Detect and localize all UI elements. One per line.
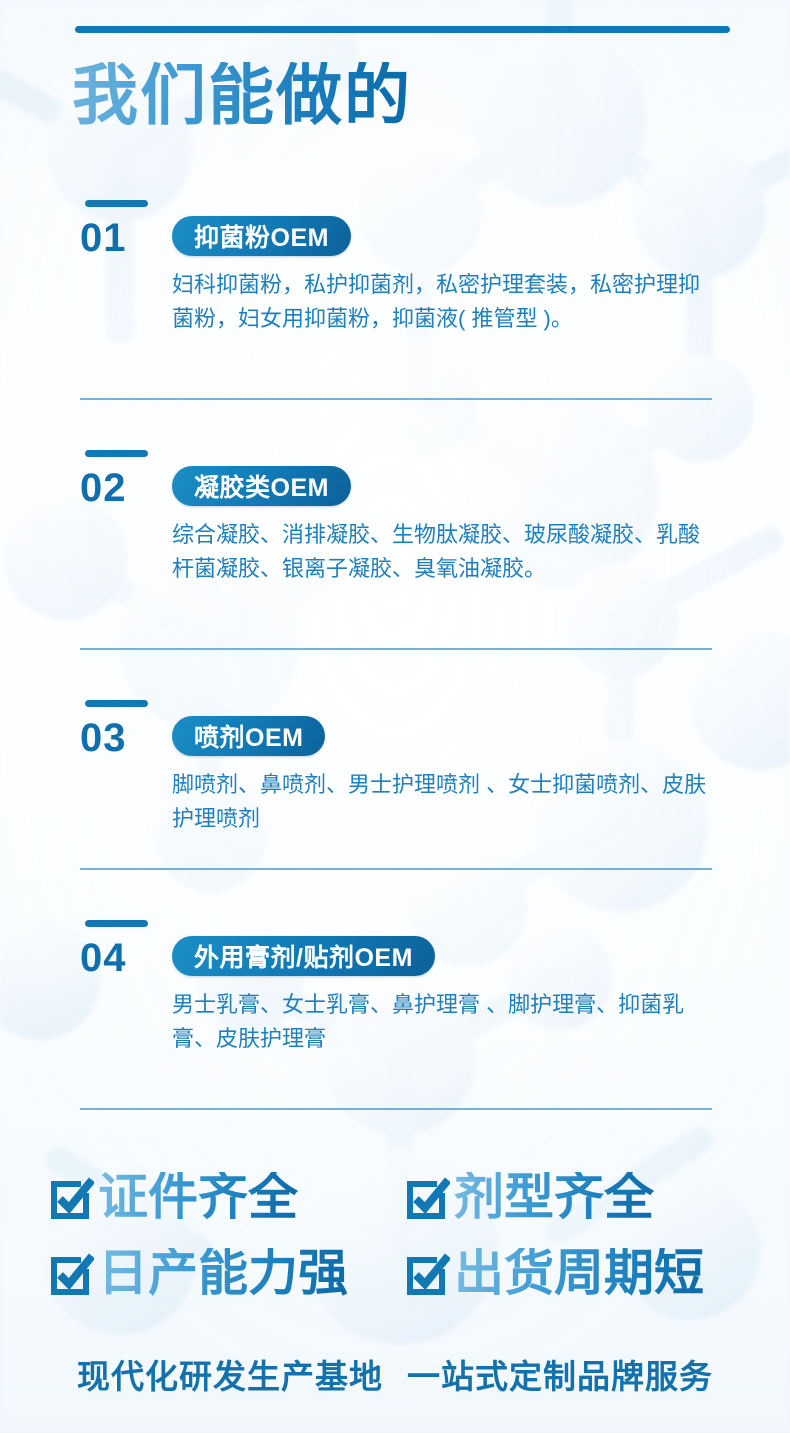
feature-item: 证件齐全 [48, 1172, 298, 1222]
feature-label: 出货周期短 [454, 1248, 704, 1298]
feature-item: 出货周期短 [404, 1248, 704, 1298]
feature-label: 证件齐全 [98, 1172, 298, 1222]
section-divider-4 [80, 1108, 712, 1110]
tagline-left: 现代化研发生产基地 [77, 1358, 383, 1395]
checkbox-checked-icon [404, 1252, 450, 1298]
section-divider-2 [80, 648, 712, 650]
item-description: 综合凝胶、消排凝胶、生物肽凝胶、玻尿酸凝胶、乳酸杆菌凝胶、银离子凝胶、臭氧油凝胶… [172, 518, 707, 586]
item-number: 04 [80, 938, 127, 978]
page-title: 我们能做的 [72, 62, 412, 128]
item-dash [85, 920, 148, 927]
checkbox-checked-icon [404, 1176, 450, 1222]
checkbox-checked-icon [48, 1252, 94, 1298]
section-divider-1 [80, 398, 712, 400]
top-rule [75, 26, 730, 33]
feature-item: 日产能力强 [48, 1248, 348, 1298]
feature-item: 剂型齐全 [404, 1172, 654, 1222]
item-pill-label[interactable]: 抑菌粉OEM [172, 216, 351, 256]
tagline-right: 一站式定制品牌服务 [407, 1358, 713, 1395]
item-number: 02 [80, 468, 127, 508]
item-number: 03 [80, 718, 127, 758]
item-number: 01 [80, 218, 127, 258]
item-description: 脚喷剂、鼻喷剂、男士护理喷剂 、女士抑菌喷剂、皮肤护理喷剂 [172, 768, 707, 836]
item-dash [85, 450, 148, 457]
item-dash [85, 200, 148, 207]
item-description: 妇科抑菌粉，私护抑菌剂，私密护理套装，私密护理抑菌粉，妇女用抑菌粉，抑菌液( 推… [172, 268, 707, 336]
item-pill-label[interactable]: 外用膏剂/贴剂OEM [172, 936, 435, 976]
feature-label: 日产能力强 [98, 1248, 348, 1298]
tagline: 现代化研发生产基地一站式定制品牌服务 [0, 1350, 790, 1398]
feature-label: 剂型齐全 [454, 1172, 654, 1222]
item-pill-label[interactable]: 喷剂OEM [172, 716, 325, 756]
item-dash [85, 700, 148, 707]
item-description: 男士乳膏、女士乳膏、鼻护理膏 、脚护理膏、抑菌乳膏、皮肤护理膏 [172, 988, 707, 1056]
poster-page: 我们能做的 01 抑菌粉OEM 妇科抑菌粉，私护抑菌剂，私密护理套装，私密护理抑… [0, 0, 790, 1433]
section-divider-3 [80, 868, 712, 870]
item-pill-label[interactable]: 凝胶类OEM [172, 466, 351, 506]
checkbox-checked-icon [48, 1176, 94, 1222]
